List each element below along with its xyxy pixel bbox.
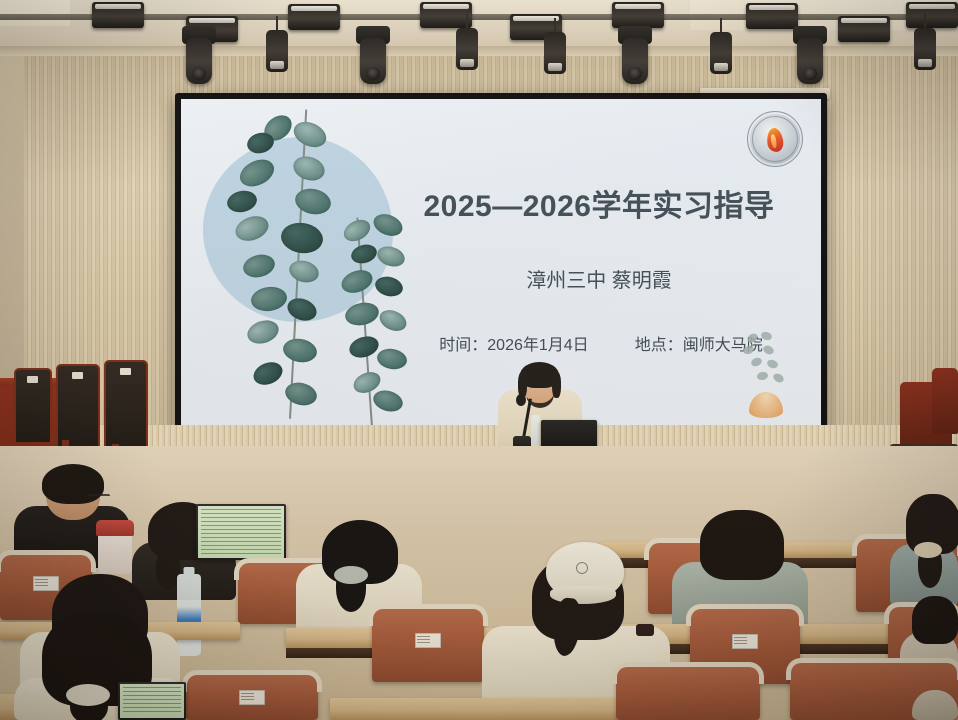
stage-light-fixture <box>288 4 340 30</box>
seat <box>372 608 484 682</box>
laptop-open <box>118 682 186 720</box>
lecture-hall-scene: 2025—2026学年实习指导 漳州三中 蔡明霞 时间：2026年1月4日 地点… <box>0 0 958 720</box>
stage-light-fixture <box>92 2 144 28</box>
school-emblem-logo <box>747 111 803 167</box>
stage-light-fixture <box>420 2 472 28</box>
slide-meta-time: 时间：2026年1月4日 <box>439 331 588 355</box>
slide-meta-time-value: 2026年1月4日 <box>487 337 588 354</box>
seat-label <box>239 690 265 705</box>
moving-head-light <box>186 38 212 84</box>
lamp-lens-icon <box>841 18 887 23</box>
desk-row <box>330 698 620 720</box>
travel-cup <box>98 530 132 574</box>
stage-chair-dark <box>56 364 100 448</box>
moving-head-light <box>622 38 648 84</box>
seat-label <box>415 633 441 648</box>
stage-light-fixture <box>612 2 664 28</box>
lamp-lens-icon <box>291 6 337 11</box>
cup-lid <box>96 520 134 536</box>
stage-chair-dark <box>104 360 148 450</box>
moving-head-light <box>797 38 823 84</box>
laptop-screen <box>120 684 184 718</box>
laptop-open <box>196 504 286 560</box>
cap-logo-icon <box>576 562 588 574</box>
lamp-lens-icon <box>909 4 955 9</box>
seat-label <box>732 634 758 649</box>
lamp-lens-icon <box>95 4 141 9</box>
microphone-head-icon <box>516 394 526 406</box>
seat-trim <box>612 662 764 684</box>
projection-screen: 2025—2026学年实习指导 漳州三中 蔡明霞 时间：2026年1月4日 地点… <box>175 93 827 434</box>
lamp-lens-icon <box>423 4 469 9</box>
corner-sprig-decoration <box>741 330 795 388</box>
slide-title: 2025—2026学年实习指导 <box>379 181 819 225</box>
seat <box>186 674 318 720</box>
moving-head-light <box>360 38 386 84</box>
corner-shell-decoration <box>749 392 783 418</box>
stage-light-fixture <box>838 16 890 42</box>
lamp-lens-icon <box>189 18 235 23</box>
seat <box>616 666 760 720</box>
bottle-cap <box>184 567 195 575</box>
wristwatch <box>636 624 654 636</box>
stage-light-fixture <box>906 2 958 28</box>
laptop-screen <box>198 506 284 558</box>
lamp-lens-icon <box>615 4 661 9</box>
glasses-icon <box>88 494 110 500</box>
pendant-spotlight <box>710 32 732 74</box>
lamp-lens-icon <box>749 5 795 10</box>
seat-label <box>33 576 59 591</box>
seat-trim <box>368 604 488 626</box>
pendant-spotlight <box>456 28 478 70</box>
slide-meta-place-label: 地点： <box>635 337 683 354</box>
seat-trim <box>786 658 958 680</box>
pendant-spotlight <box>266 30 288 72</box>
water-bottle <box>177 574 201 656</box>
stage-light-fixture <box>746 3 798 29</box>
speaker-hair-side <box>552 372 561 398</box>
slide-subtitle: 漳州三中 蔡明霞 <box>379 264 819 293</box>
presentation-slide: 2025—2026学年实习指导 漳州三中 蔡明霞 时间：2026年1月4日 地点… <box>181 99 821 428</box>
lamp-lens-icon <box>513 16 559 21</box>
stage-chair-dark <box>14 368 52 444</box>
slide-meta-time-label: 时间： <box>439 337 487 354</box>
pendant-spotlight <box>914 28 936 70</box>
seat-trim <box>686 604 804 626</box>
seat-trim <box>0 550 96 572</box>
pendant-spotlight <box>544 32 566 74</box>
audience-area <box>0 446 958 720</box>
